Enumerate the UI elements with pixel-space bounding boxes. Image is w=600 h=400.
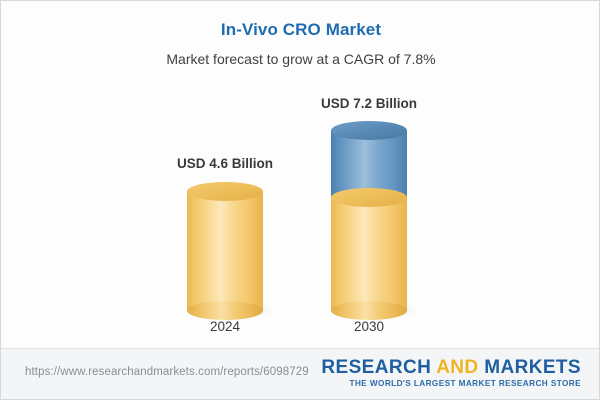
- value-label-2024: USD 4.6 Billion: [145, 156, 305, 171]
- cylinder-top-cap-2030: [331, 121, 407, 140]
- logo-word-markets: MARKETS: [484, 357, 581, 378]
- logo-wordmark: RESEARCH AND MARKETS: [321, 357, 581, 378]
- value-label-2030: USD 7.2 Billion: [289, 96, 449, 111]
- category-label-2030: 2030: [289, 319, 449, 334]
- footer-bar: https://www.researchandmarkets.com/repor…: [1, 348, 599, 399]
- report-url[interactable]: https://www.researchandmarkets.com/repor…: [25, 366, 309, 378]
- infographic-chart: In-Vivo CRO Market Market forecast to gr…: [0, 0, 600, 400]
- category-label-2024: 2024: [145, 319, 305, 334]
- cylinder-segment-divider-2030: [331, 188, 407, 207]
- cylinder-bottom-cap-2030: [331, 301, 407, 320]
- cylinder-body-2024-base: [187, 191, 263, 311]
- logo-tagline: THE WORLD'S LARGEST MARKET RESEARCH STOR…: [321, 378, 581, 389]
- chart-plot-area: USD 4.6 Billion 2024 USD 7.2 Billion 203…: [1, 1, 600, 349]
- cylinder-top-cap-2024: [187, 182, 263, 201]
- logo-word-research: RESEARCH: [321, 357, 431, 378]
- cylinder-body-2030-base: [331, 197, 407, 311]
- brand-logo[interactable]: RESEARCH AND MARKETS THE WORLD'S LARGEST…: [321, 357, 581, 389]
- cylinder-bottom-cap-2024: [187, 301, 263, 320]
- logo-word-and: AND: [436, 357, 478, 378]
